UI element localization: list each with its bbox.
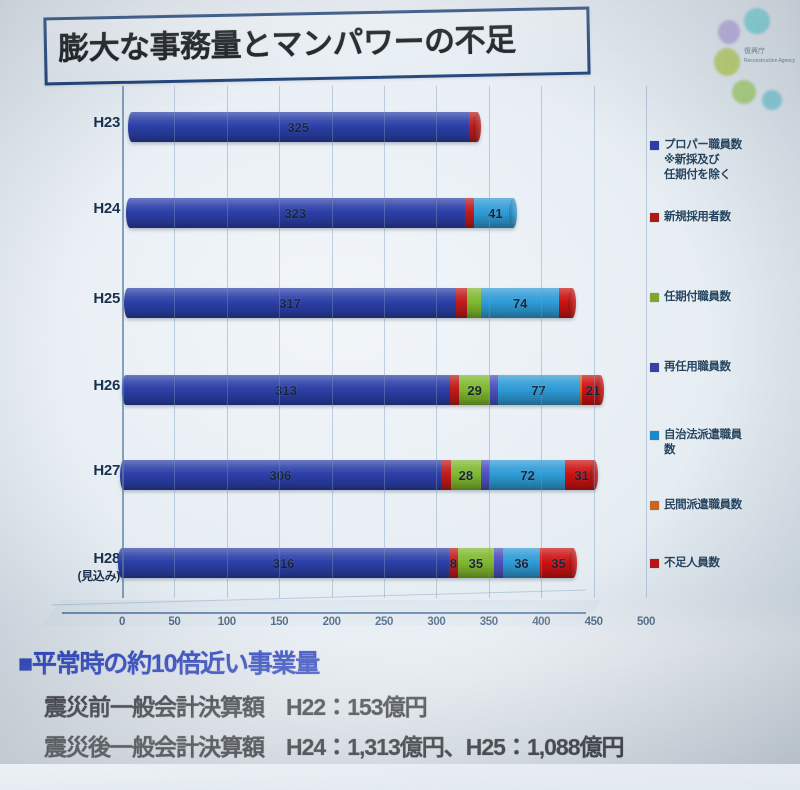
gridline-400 xyxy=(541,86,542,598)
gridline-350 xyxy=(489,86,490,598)
legend-swatch-5 xyxy=(650,501,659,510)
gridline-0 xyxy=(122,86,124,598)
legend-label-3: 再任用職員数 xyxy=(664,360,731,375)
x-axis-line xyxy=(62,612,586,614)
legend-item-2[interactable]: 任期付職員数 xyxy=(650,290,731,305)
gridline-150 xyxy=(279,86,280,598)
logo-text-line2: Reconstruction Agency xyxy=(744,58,795,64)
legend-item-3[interactable]: 再任用職員数 xyxy=(650,360,731,375)
legend-label-4: 自治法派遣職員数 xyxy=(664,428,742,458)
logo-dot-teal xyxy=(744,8,770,34)
logo-text: 復興庁 Reconstruction Agency xyxy=(744,48,795,66)
footer-line-1: 震災前一般会計決算額 H22：153億円 xyxy=(44,688,427,722)
legend-label-6: 不足人員数 xyxy=(664,556,720,571)
gridline-450 xyxy=(594,86,595,598)
legend-label-1: 新規採用者数 xyxy=(664,210,731,225)
logo-dot-cyan xyxy=(762,90,782,110)
x-tick-label-500: 500 xyxy=(637,616,655,628)
legend-swatch-6 xyxy=(650,559,659,568)
footer-heading: ■平常時の約10倍近い事業量 xyxy=(18,644,319,680)
legend-swatch-0 xyxy=(650,141,659,150)
logo-dot-olive xyxy=(714,48,740,76)
legend-label-2: 任期付職員数 xyxy=(664,290,731,305)
footer-line-2: 震災後一般会計決算額 H24：1,313億円、H25：1,088億円 xyxy=(44,728,624,762)
legend-item-5[interactable]: 民間派遣職員数 xyxy=(650,498,742,513)
gridline-250 xyxy=(384,86,385,598)
legend-swatch-4 xyxy=(650,431,659,440)
logo-dot-purple xyxy=(718,20,740,44)
legend-item-0[interactable]: プロパー職員数※新採及び任期付を除く xyxy=(650,138,742,183)
agency-logo: 復興庁 Reconstruction Agency xyxy=(700,6,792,106)
legend-item-1[interactable]: 新規採用者数 xyxy=(650,210,731,225)
legend-item-4[interactable]: 自治法派遣職員数 xyxy=(650,428,742,458)
legend-swatch-2 xyxy=(650,293,659,302)
logo-text-line1: 復興庁 xyxy=(744,48,765,55)
gridline-300 xyxy=(436,86,437,598)
legend-swatch-1 xyxy=(650,213,659,222)
legend-label-5: 民間派遣職員数 xyxy=(664,498,742,513)
gridline-500 xyxy=(646,86,647,598)
legend-swatch-3 xyxy=(650,363,659,372)
gridline-50 xyxy=(174,86,175,598)
legend-label-0: プロパー職員数※新採及び任期付を除く xyxy=(664,138,742,183)
gridline-100 xyxy=(227,86,228,598)
bar-chart xyxy=(60,86,620,631)
presentation-slide: 膨大な事務量とマンパワーの不足 復興庁 Reconstruction Agenc… xyxy=(0,0,800,764)
gridline-200 xyxy=(332,86,333,598)
legend-item-6[interactable]: 不足人員数 xyxy=(650,556,720,571)
logo-dot-green xyxy=(732,80,756,104)
